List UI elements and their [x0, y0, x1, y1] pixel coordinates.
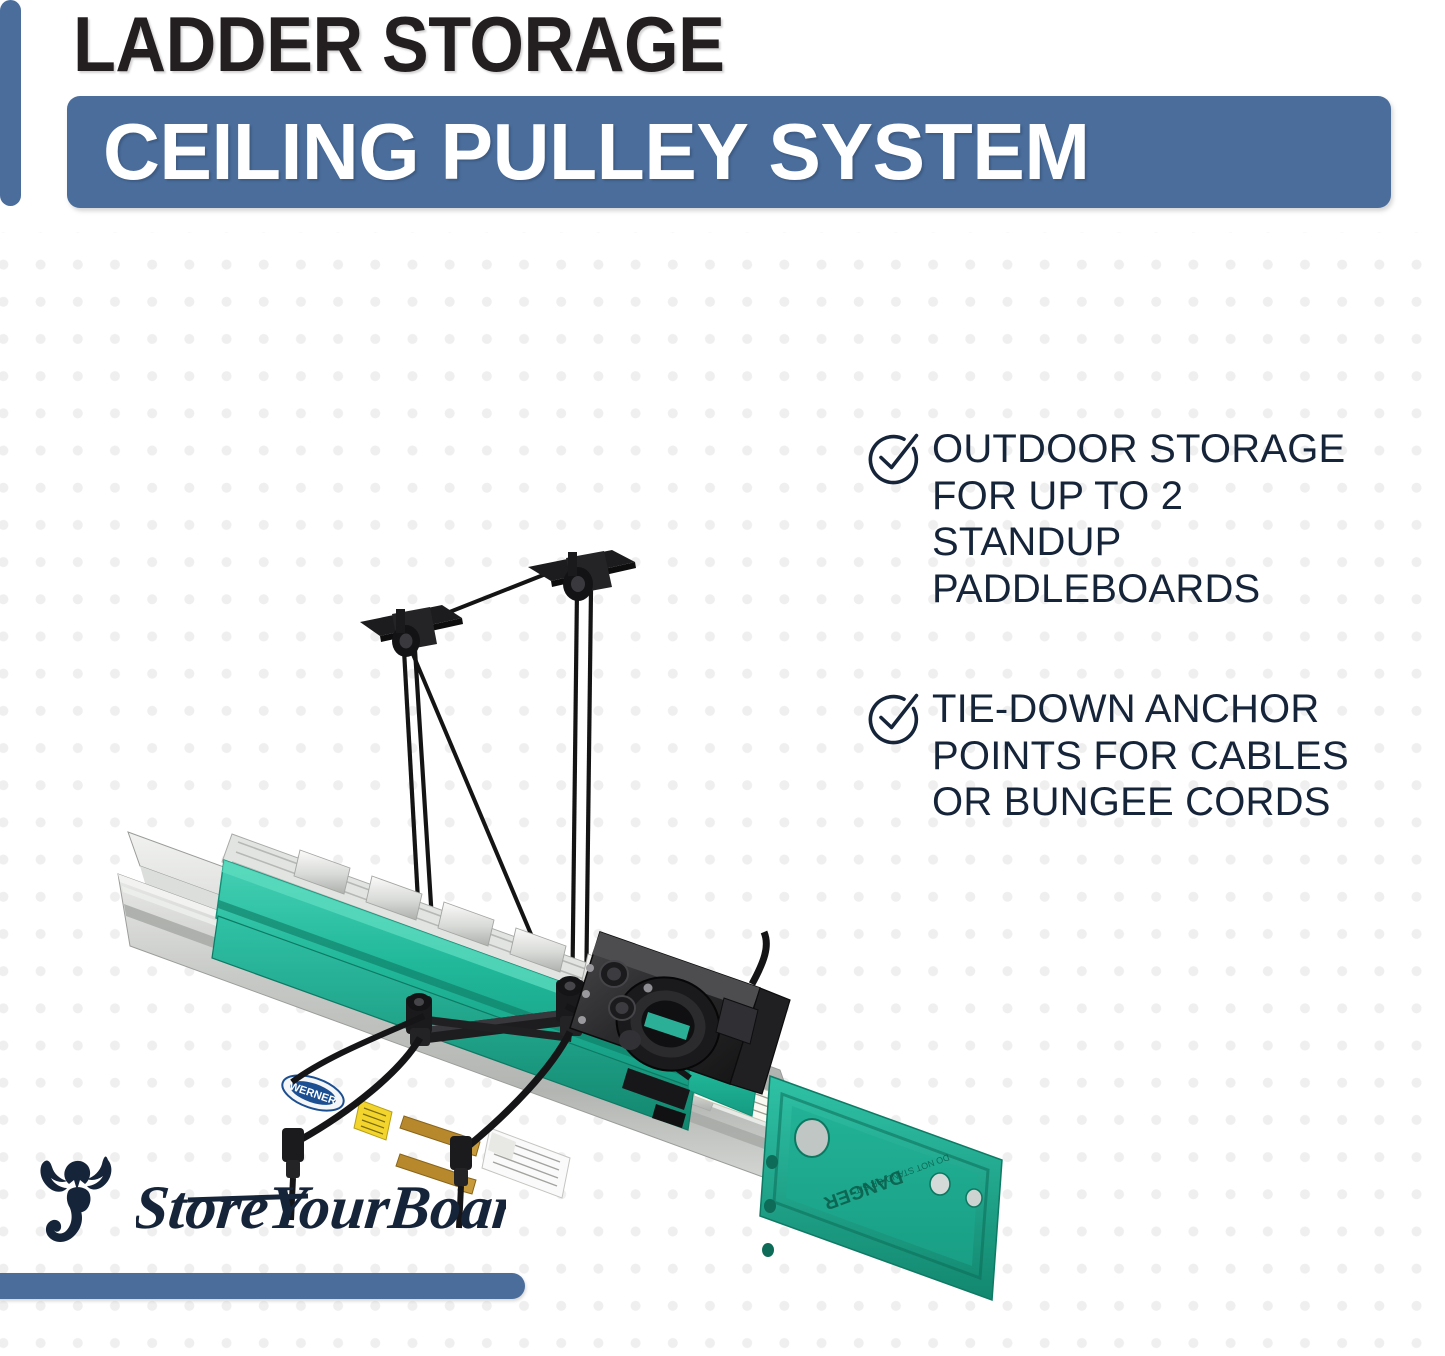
brand-logo: StoreYourBoard — [36, 1148, 506, 1254]
feature-item: TIE-DOWN ANCHOR POINTS FOR CABLES OR BUN… — [866, 684, 1356, 826]
title-banner: CEILING PULLEY SYSTEM — [67, 96, 1391, 208]
ceiling-mount-bracket-rear — [528, 550, 636, 601]
brand-wordmark: StoreYourBoard — [136, 1154, 506, 1250]
feature-label: OUTDOOR STORAGE FOR UP TO 2 STANDUP PADD… — [932, 424, 1356, 612]
feature-item: OUTDOOR STORAGE FOR UP TO 2 STANDUP PADD… — [866, 424, 1356, 612]
scorpion-emblem-icon — [36, 1150, 128, 1250]
caution-sticker — [354, 1100, 392, 1140]
feature-label: TIE-DOWN ANCHOR POINTS FOR CABLES OR BUN… — [932, 684, 1356, 826]
check-icon-wrap — [866, 684, 932, 746]
feature-list: OUTDOOR STORAGE FOR UP TO 2 STANDUP PADD… — [866, 424, 1356, 898]
ceiling-mount-bracket-front — [360, 605, 463, 657]
banner-title: CEILING PULLEY SYSTEM — [103, 102, 1089, 202]
brand-name: StoreYourBoard — [136, 1174, 506, 1242]
check-circle-icon — [866, 690, 922, 746]
check-circle-icon — [866, 430, 922, 486]
header: LADDER STORAGE CEILING PULLEY SYSTEM — [0, 0, 1445, 222]
bottom-accent-bar — [0, 1273, 525, 1299]
page-title: LADDER STORAGE — [73, 0, 725, 90]
ladder-brand-badge: WERNER — [278, 1068, 348, 1117]
check-icon-wrap — [866, 424, 932, 486]
left-accent-bar — [0, 0, 21, 206]
